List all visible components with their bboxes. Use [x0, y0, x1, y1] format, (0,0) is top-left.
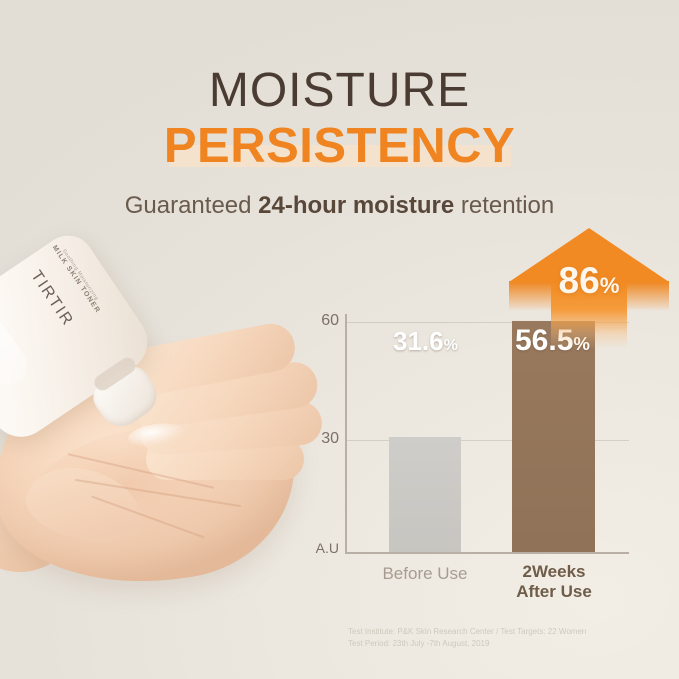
- title-accent-wrap: PERSISTENCY: [0, 117, 679, 175]
- footnote-line-1: Test Institute: P&K Skin Research Center…: [348, 626, 668, 638]
- bar-value-before: 31.6%: [393, 326, 458, 357]
- footnote-line-2: Test Period: 23th July -7th August, 2019: [348, 638, 668, 650]
- increase-value: 86%: [509, 260, 669, 302]
- page-title-accent: PERSISTENCY: [0, 117, 679, 175]
- y-axis: [345, 314, 347, 554]
- subtitle: Guaranteed 24-hour moisture retention: [0, 192, 679, 220]
- page-title: MOISTURE: [0, 63, 679, 118]
- percent-sign: %: [600, 273, 620, 298]
- y-tick-60: 60: [299, 312, 339, 330]
- bar-value-before-number: 31.6: [393, 326, 444, 356]
- subtitle-prefix: Guaranteed: [125, 192, 258, 219]
- subtitle-emphasis: 24-hour moisture: [258, 192, 454, 219]
- percent-sign: %: [444, 336, 458, 354]
- y-axis-label: A.U: [299, 540, 339, 556]
- x-label-after-line2: After Use: [491, 582, 617, 602]
- subtitle-suffix: retention: [454, 192, 554, 219]
- x-label-before-line1: Before Use: [363, 564, 487, 584]
- bar-before-use: [389, 437, 461, 552]
- infographic-canvas: TIRTIR MILK SKIN TONER Soothing Moisturi…: [0, 0, 679, 679]
- x-label-after-use: 2Weeks After Use: [491, 562, 617, 602]
- footnote: Test Institute: P&K Skin Research Center…: [348, 626, 668, 649]
- x-axis: [345, 552, 629, 554]
- increase-arrow: 86%: [509, 228, 669, 348]
- x-label-before-use: Before Use: [363, 564, 487, 584]
- y-tick-30: 30: [299, 430, 339, 448]
- x-label-after-line1: 2Weeks: [491, 562, 617, 582]
- increase-number: 86: [559, 260, 600, 301]
